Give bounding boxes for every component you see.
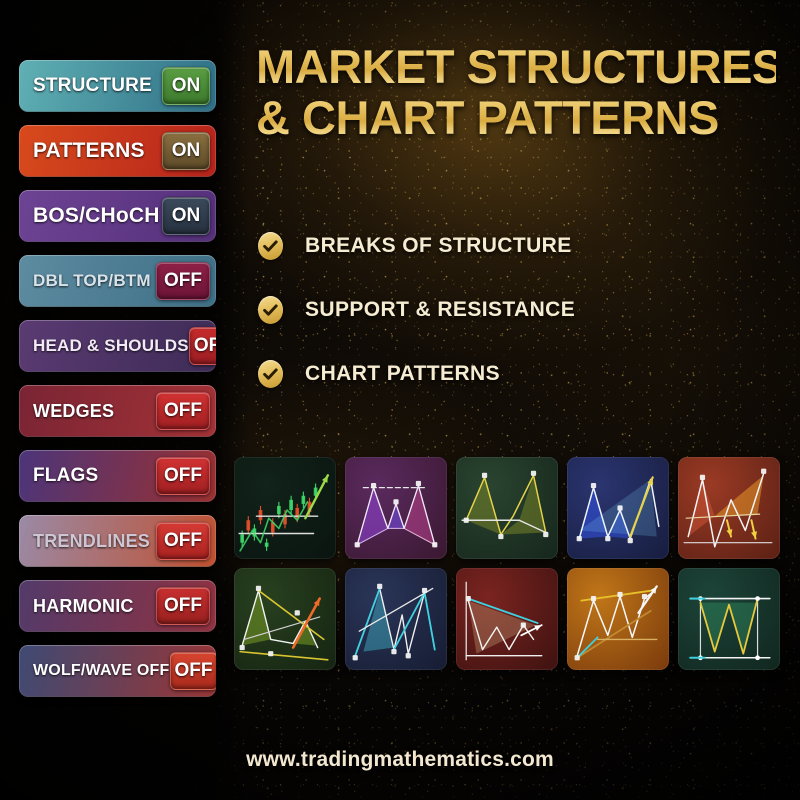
check-circle-icon: [258, 360, 283, 388]
title-line-2: & CHART PATTERNS: [256, 93, 776, 144]
thumbnail-chart-art: [567, 568, 669, 670]
check-circle-icon: [258, 232, 283, 260]
toggle-state-badge[interactable]: ON: [162, 197, 210, 235]
thumbnail-double-bottom-range[interactable]: [678, 568, 780, 670]
thumbnail-chart-art: [345, 568, 447, 670]
check-circle-icon: [258, 296, 283, 324]
thumbnail-chart-art: [345, 457, 447, 559]
toggle-label: FLAGS: [33, 465, 156, 487]
thumbnail-chart-art: [234, 457, 336, 559]
toggle-state-badge[interactable]: OFF: [156, 392, 210, 430]
feature-list-label: SUPPORT & RESISTANCE: [305, 298, 575, 322]
thumbnail-bearish-harmonic[interactable]: [678, 457, 780, 559]
feature-list-label: CHART PATTERNS: [305, 362, 500, 386]
toggle-label: WOLF/WAVE OFF: [33, 662, 170, 680]
toggle-label: WEDGES: [33, 401, 156, 422]
thumbnail-abcd-pattern[interactable]: [567, 457, 669, 559]
toggle-dbl-top-btm[interactable]: DBL TOP/BTMOFF: [19, 255, 216, 307]
thumbnail-descending-triangle[interactable]: [456, 568, 558, 670]
feature-list-item: SUPPORT & RESISTANCE: [258, 292, 575, 328]
feature-list-label: BREAKS OF STRUCTURE: [305, 234, 572, 258]
thumbnail-chart-art: [678, 457, 780, 559]
title-line-1: MARKET STRUCTURES: [256, 42, 776, 93]
toggle-state-badge[interactable]: OFF: [156, 522, 210, 560]
toggle-label: BOS/CHoCH: [33, 204, 162, 228]
toggle-state-badge[interactable]: OFF: [170, 652, 216, 690]
toggle-wedges[interactable]: WEDGESOFF: [19, 385, 216, 437]
toggle-state-badge[interactable]: ON: [162, 67, 210, 105]
page-title: MARKET STRUCTURES & CHART PATTERNS: [256, 42, 776, 144]
toggle-state-badge[interactable]: ON: [162, 132, 210, 170]
thumbnail-chart-art: [567, 457, 669, 559]
thumbnail-head-and-shoulders[interactable]: [345, 457, 447, 559]
toggle-label: HEAD & SHOULDS: [33, 336, 189, 356]
toggle-bos-choch[interactable]: BOS/CHoCHON: [19, 190, 216, 242]
toggle-trendlines[interactable]: TRENDLINESOFF: [19, 515, 216, 567]
toggle-label: TRENDLINES: [33, 531, 156, 552]
toggle-structure[interactable]: STRUCTUREON: [19, 60, 216, 112]
toggle-harmonic[interactable]: HARMONICOFF: [19, 580, 216, 632]
poster-canvas: STRUCTUREONPATTERNSONBOS/CHoCHONDBL TOP/…: [0, 0, 800, 800]
thumbnail-ascending-wedge[interactable]: [567, 568, 669, 670]
feature-list-item: CHART PATTERNS: [258, 356, 575, 392]
pattern-thumbnail-grid: [234, 457, 780, 670]
toggle-label: DBL TOP/BTM: [33, 271, 156, 291]
toggle-head-shoulds[interactable]: HEAD & SHOULDSOFF: [19, 320, 216, 372]
feature-list: BREAKS OF STRUCTURESUPPORT & RESISTANCEC…: [258, 228, 575, 420]
thumbnail-wolfe-wave[interactable]: [345, 568, 447, 670]
toggle-state-badge[interactable]: OFF: [156, 262, 210, 300]
thumbnail-trendline-channel[interactable]: [234, 568, 336, 670]
feature-list-item: BREAKS OF STRUCTURE: [258, 228, 575, 264]
thumbnail-double-top[interactable]: [456, 457, 558, 559]
footer-url[interactable]: www.tradingmathematics.com: [0, 748, 800, 772]
toggle-wolf-wave-off[interactable]: WOLF/WAVE OFFOFF: [19, 645, 216, 697]
thumbnail-chart-art: [234, 568, 336, 670]
toggle-state-badge[interactable]: OFF: [189, 327, 216, 365]
toggle-state-badge[interactable]: OFF: [156, 457, 210, 495]
toggle-label: STRUCTURE: [33, 75, 162, 97]
toggle-state-badge[interactable]: OFF: [156, 587, 210, 625]
toggle-flags[interactable]: FLAGSOFF: [19, 450, 216, 502]
toggle-label: HARMONIC: [33, 596, 156, 617]
toggle-patterns[interactable]: PATTERNSON: [19, 125, 216, 177]
settings-sidebar: STRUCTUREONPATTERNSONBOS/CHoCHONDBL TOP/…: [19, 60, 216, 710]
thumbnail-candlestick-breakout[interactable]: [234, 457, 336, 559]
thumbnail-chart-art: [678, 568, 780, 670]
toggle-label: PATTERNS: [33, 139, 162, 163]
thumbnail-chart-art: [456, 457, 558, 559]
thumbnail-chart-art: [456, 568, 558, 670]
